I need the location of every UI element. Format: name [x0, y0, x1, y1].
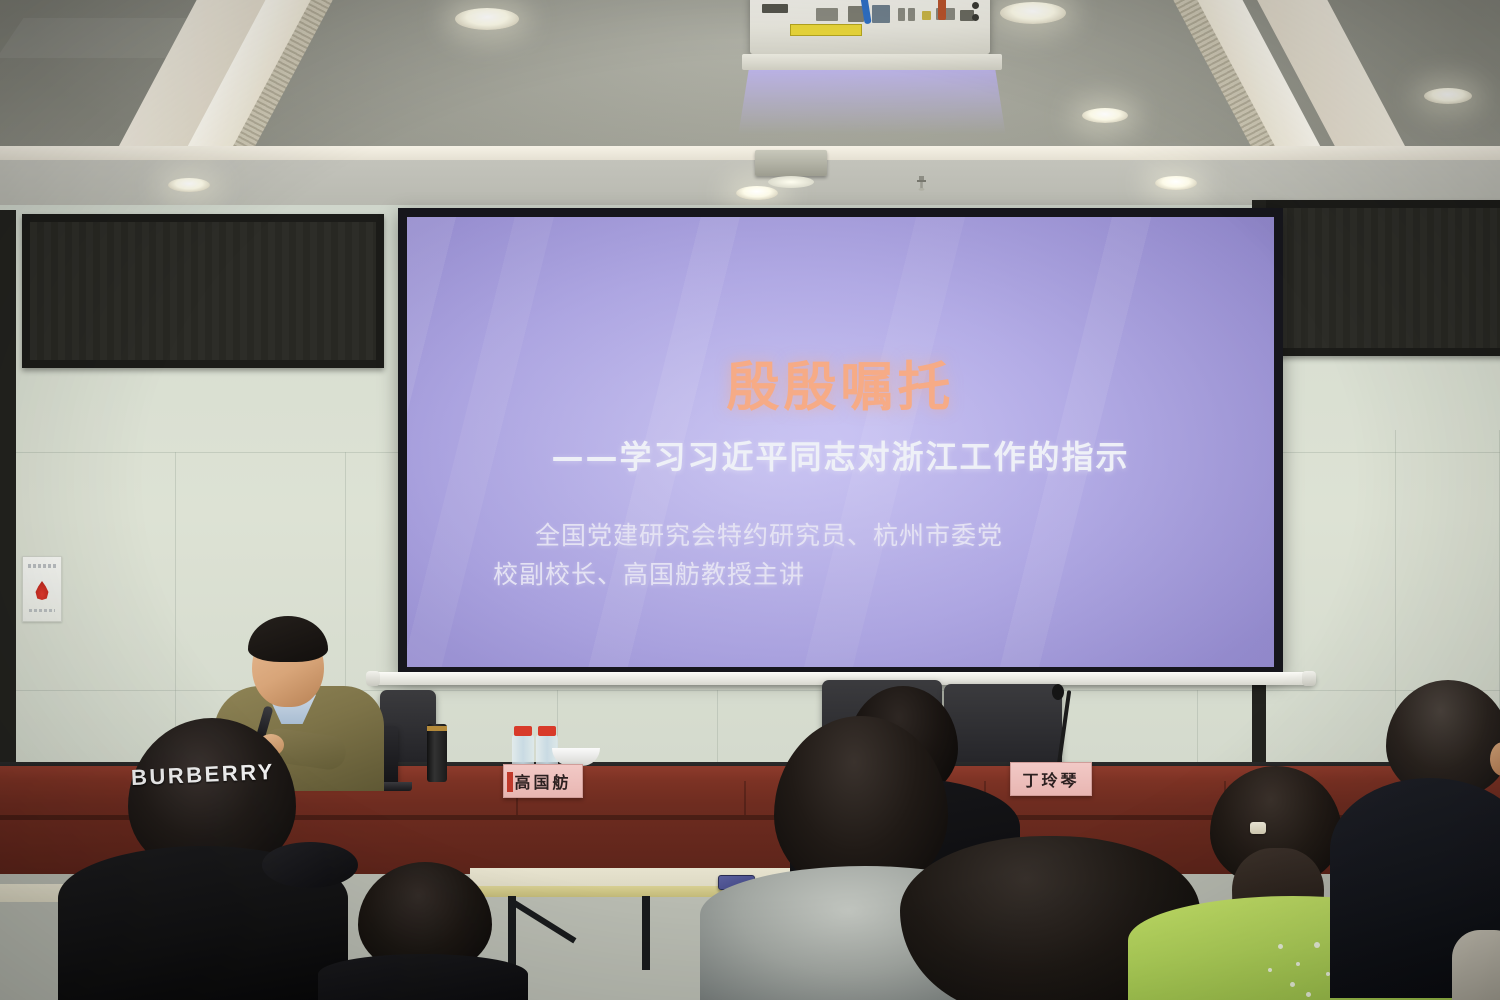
wall-jamb-left [0, 210, 16, 766]
sequin-sparkle [1296, 962, 1300, 966]
sequin-sparkle [1278, 944, 1283, 949]
nameplate-tab [507, 772, 513, 792]
audience-desk-leg [642, 896, 650, 970]
sequin-sparkle [1306, 992, 1311, 997]
downlight-icon [1082, 108, 1128, 123]
water-bottle-cap [538, 726, 556, 736]
gooseneck-mic-capsule [1052, 684, 1064, 700]
fire-safety-sign [22, 556, 62, 622]
downlight-icon [736, 186, 778, 200]
downlight-icon [1424, 88, 1472, 104]
nameplate-text: 丁玲琴 [1022, 767, 1079, 791]
slide-body-line-1: 全国党建研究会特约研究员、杭州市委党 [535, 521, 1003, 550]
sprinkler-head-icon [916, 176, 927, 191]
fire-sign-bottom-text [29, 609, 55, 612]
wall-panel-texture [1266, 208, 1500, 348]
wall-panel-texture [30, 222, 376, 360]
downlight-icon [168, 178, 210, 192]
fire-sign-top-text [28, 564, 56, 568]
sequin-sparkle [1290, 982, 1295, 987]
ceiling-equipment-light [768, 176, 814, 188]
slide-title: 殷殷嘱托 [407, 345, 1274, 421]
sequin-sparkle [1268, 968, 1272, 972]
screen-roller-cap-left [366, 671, 380, 686]
water-bottle-cap [514, 726, 532, 736]
projector-mount-plate [742, 54, 1002, 70]
nameplate-presenter: 高国舫 [503, 764, 583, 798]
audience-member-far-right-partial [1452, 930, 1500, 1000]
lecture-hall-photo: 殷殷嘱托 ——学习习近平同志对浙江工作的指示 全国党建研究会特约研究员、杭州市委… [0, 0, 1500, 1000]
ceiling-equipment-box [755, 150, 827, 176]
nameplate-text: 高国舫 [514, 769, 571, 793]
downlight-icon [1155, 176, 1197, 190]
slide-body: 全国党建研究会特约研究员、杭州市委党 校副校长、高国舫教授主讲 [535, 517, 1190, 595]
projector-light-beam [738, 66, 1005, 134]
ceiling-projector [750, 0, 990, 54]
sequin-sparkle [1314, 942, 1320, 948]
projector-warning-label [790, 24, 862, 36]
hair-tie [1250, 822, 1266, 834]
wall-panel-dark-right [1258, 200, 1500, 356]
thermos-lid-band [427, 726, 447, 731]
downlight-icon [455, 8, 519, 30]
audience-member-front-left [318, 862, 528, 1000]
audience-shoulders [318, 954, 528, 1000]
flame-icon [34, 581, 51, 600]
downlight-icon [1000, 2, 1066, 24]
slide-subtitle: ——学习习近平同志对浙江工作的指示 [407, 432, 1274, 478]
wall-panel-dark-left [22, 214, 384, 368]
screen-roller-cap-right [1302, 671, 1316, 686]
thermos-flask [427, 724, 447, 782]
projected-slide: 殷殷嘱托 ——学习习近平同志对浙江工作的指示 全国党建研究会特约研究员、杭州市委… [407, 217, 1274, 667]
slide-body-line-2: 校副校长、高国舫教授主讲 [493, 556, 1190, 595]
projection-screen: 殷殷嘱托 ——学习习近平同志对浙江工作的指示 全国党建研究会特约研究员、杭州市委… [398, 208, 1283, 676]
